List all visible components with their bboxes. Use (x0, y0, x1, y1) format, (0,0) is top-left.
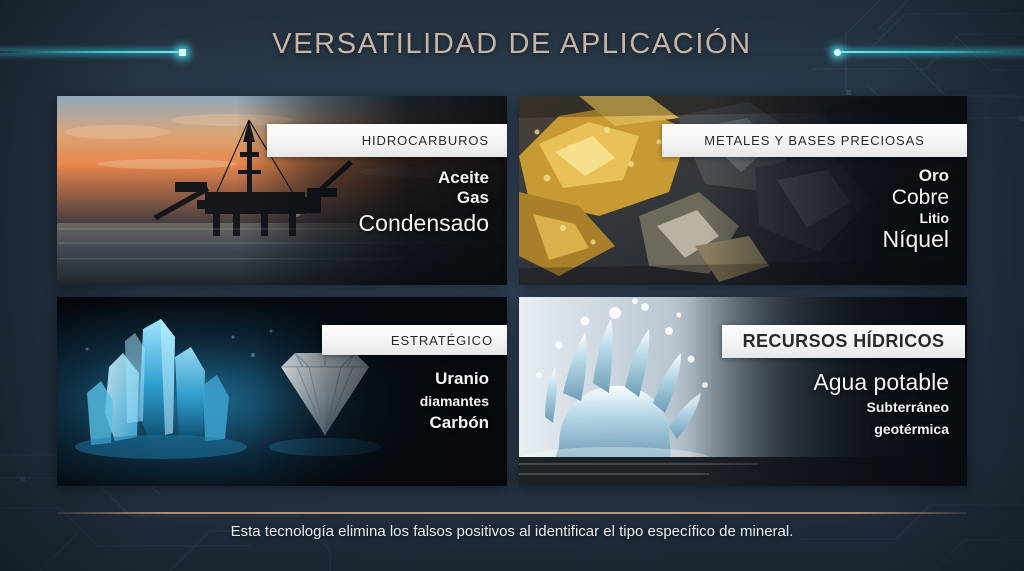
list-item: Litio (919, 210, 949, 226)
panel-hidricos-label: RECURSOS HÍDRICOS (736, 331, 951, 352)
panel-metales-item-list: Oro Cobre Litio Níquel (883, 166, 949, 253)
list-item: diamantes (420, 393, 489, 409)
panel-hidrocarburos-label: HIDROCARBUROS (285, 133, 489, 148)
list-item: geotérmica (874, 421, 949, 437)
footer-divider-rule (57, 512, 967, 514)
list-item: Aceite (438, 168, 489, 188)
panel-hidricos-label-box: RECURSOS HÍDRICOS (722, 325, 965, 358)
list-item: Subterráneo (867, 399, 949, 415)
footer-note: Esta tecnología elimina los falsos posit… (0, 523, 1024, 540)
panel-metales-label-box: METALES Y BASES PRECIOSAS (662, 124, 967, 157)
panel-estrategico-label: ESTRATÉGICO (336, 333, 493, 348)
list-item: Uranio (435, 369, 489, 389)
panel-hidricos-item-list: Agua potable Subterráneo geotérmica (813, 369, 949, 437)
list-item: Oro (919, 166, 949, 186)
panel-hidrocarburos-item-list: Aceite Gas Condensado (359, 168, 489, 237)
list-item: Cobre (892, 186, 949, 210)
list-item: Condensado (359, 210, 489, 237)
panel-hidrocarburos-label-box: HIDROCARBUROS (267, 124, 507, 157)
list-item: Agua potable (813, 369, 949, 396)
list-item: Carbón (430, 413, 490, 433)
panel-hidricos[interactable]: RECURSOS HÍDRICOS Agua potable Subterrán… (519, 297, 967, 486)
list-item: Gas (457, 188, 489, 208)
panel-metales-label: METALES Y BASES PRECIOSAS (676, 133, 953, 148)
panel-metales[interactable]: METALES Y BASES PRECIOSAS Oro Cobre Liti… (519, 96, 967, 285)
panel-estrategico-label-box: ESTRATÉGICO (322, 325, 507, 355)
panel-hidrocarburos[interactable]: HIDROCARBUROS Aceite Gas Condensado (57, 96, 507, 285)
page-title: VERSATILIDAD DE APLICACIÓN (0, 28, 1024, 61)
panel-estrategico[interactable]: ESTRATÉGICO Uranio diamantes Carbón (57, 297, 507, 486)
list-item: Níquel (883, 226, 949, 253)
panel-estrategico-item-list: Uranio diamantes Carbón (420, 369, 489, 433)
